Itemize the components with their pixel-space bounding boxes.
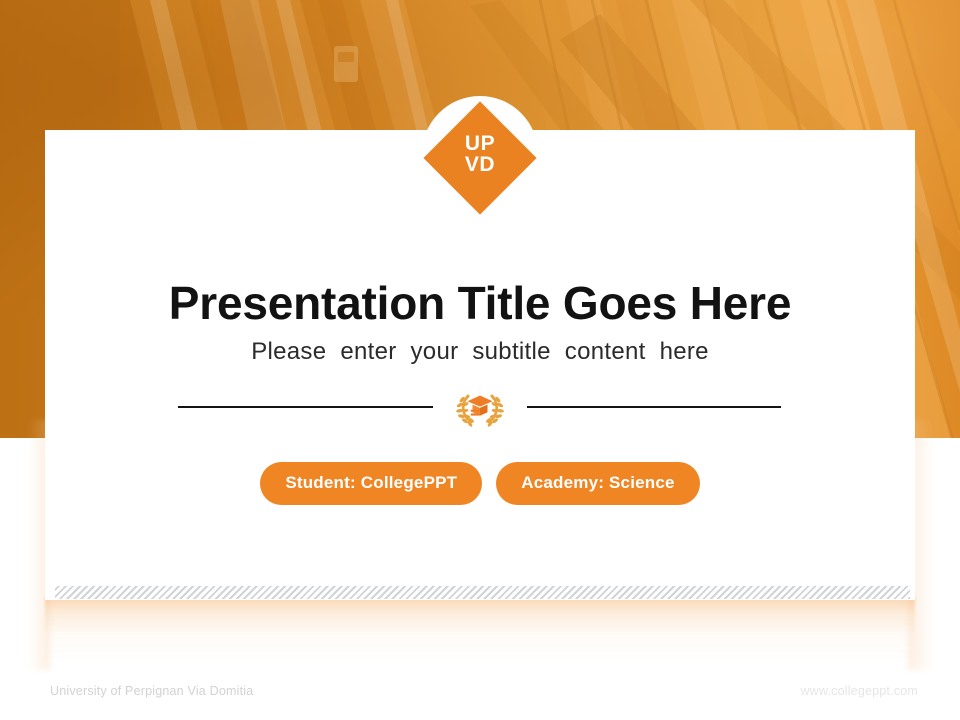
page-subtitle: Please enter your subtitle content here	[0, 338, 960, 366]
divider-line-left	[178, 406, 433, 408]
hatched-strip-decoration	[55, 586, 910, 599]
academy-pill-button[interactable]: Academy: Science	[496, 462, 699, 505]
info-pill-group: Student: CollegePPT Academy: Science	[0, 462, 960, 505]
divider-line-right	[527, 406, 781, 408]
footer-website-url[interactable]: www.collegeppt.com	[800, 684, 918, 698]
student-pill-button[interactable]: Student: CollegePPT	[260, 462, 482, 505]
footer-university-name: University of Perpignan Via Domitia	[50, 684, 253, 698]
laurel-wreath-graduation-emblem-icon	[452, 384, 508, 430]
page-title: Presentation Title Goes Here	[0, 275, 960, 331]
presentation-slide: UP VD Presentation Title Goes Here Pleas…	[0, 0, 960, 720]
card-shadow-bottom	[45, 596, 915, 662]
